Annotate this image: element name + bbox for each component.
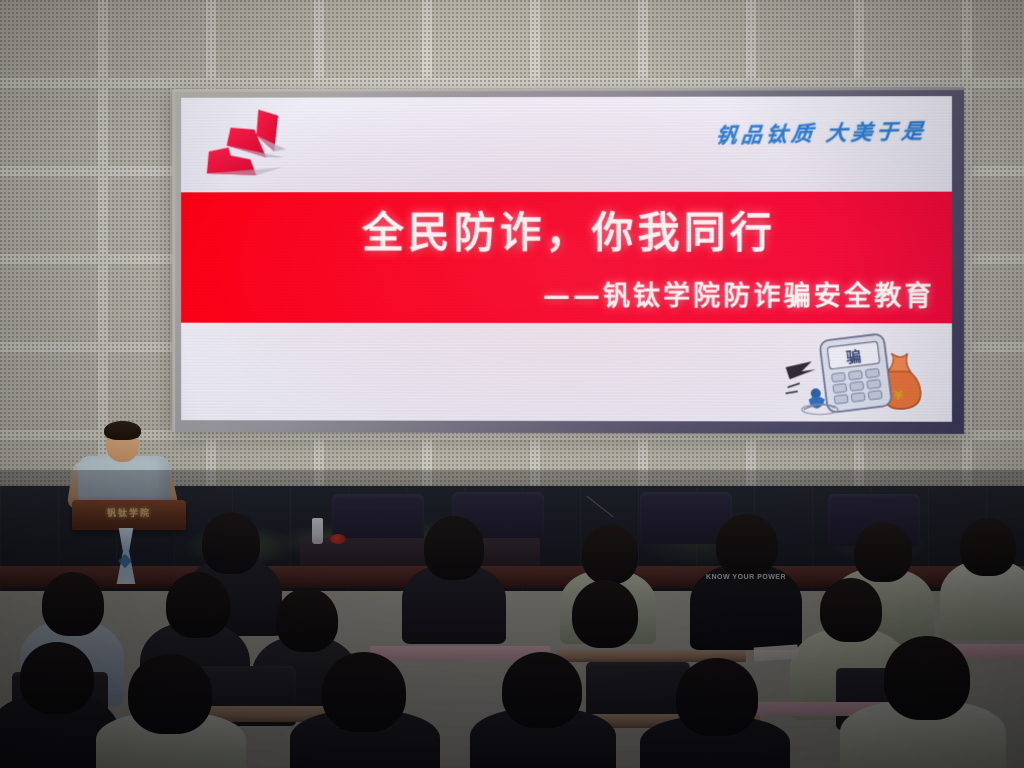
audience-head (854, 522, 912, 582)
scam-phone-moneybag-illustration: ¥ 骗 (781, 331, 932, 417)
audience-head (572, 580, 638, 648)
audience-head (820, 578, 882, 642)
audience-head (166, 572, 230, 638)
audience-head (960, 518, 1016, 576)
red-arrow-fan-logo (201, 107, 295, 185)
audience-head (582, 524, 638, 584)
led-screen: 钒品钛质 大美于是 全民防诈，你我同行 ——钒钛学院防诈骗安全教育 ¥ 骗 (181, 96, 952, 422)
slide-calligraphy-slogan: 钒品钛质 大美于是 (715, 115, 929, 150)
projection-screen-frame: 钒品钛质 大美于是 全民防诈，你我同行 ——钒钛学院防诈骗安全教育 ¥ 骗 (172, 87, 964, 434)
slide-main-title: 全民防诈，你我同行 (181, 199, 952, 260)
audience-head (42, 572, 104, 636)
audience-head (716, 514, 778, 576)
slide-subtitle: ——钒钛学院防诈骗安全教育 (543, 274, 935, 313)
audience-head (202, 512, 260, 574)
audience-head (276, 588, 338, 652)
audience-head (20, 642, 94, 714)
audience-head (128, 654, 212, 734)
audience-area: KNOW YOUR POWER (0, 486, 1024, 768)
speaker-hair (104, 421, 141, 440)
lecture-hall-photo: 钒品钛质 大美于是 全民防诈，你我同行 ——钒钛学院防诈骗安全教育 ¥ 骗 (0, 0, 1024, 768)
audience-head (502, 652, 582, 728)
svg-text:¥: ¥ (894, 389, 903, 404)
audience-head (884, 636, 970, 720)
svg-text:骗: 骗 (845, 347, 862, 367)
audience-head (424, 516, 484, 580)
tshirt-print-text: KNOW YOUR POWER (702, 574, 790, 582)
audience-head (322, 652, 406, 732)
audience-head (676, 658, 758, 736)
